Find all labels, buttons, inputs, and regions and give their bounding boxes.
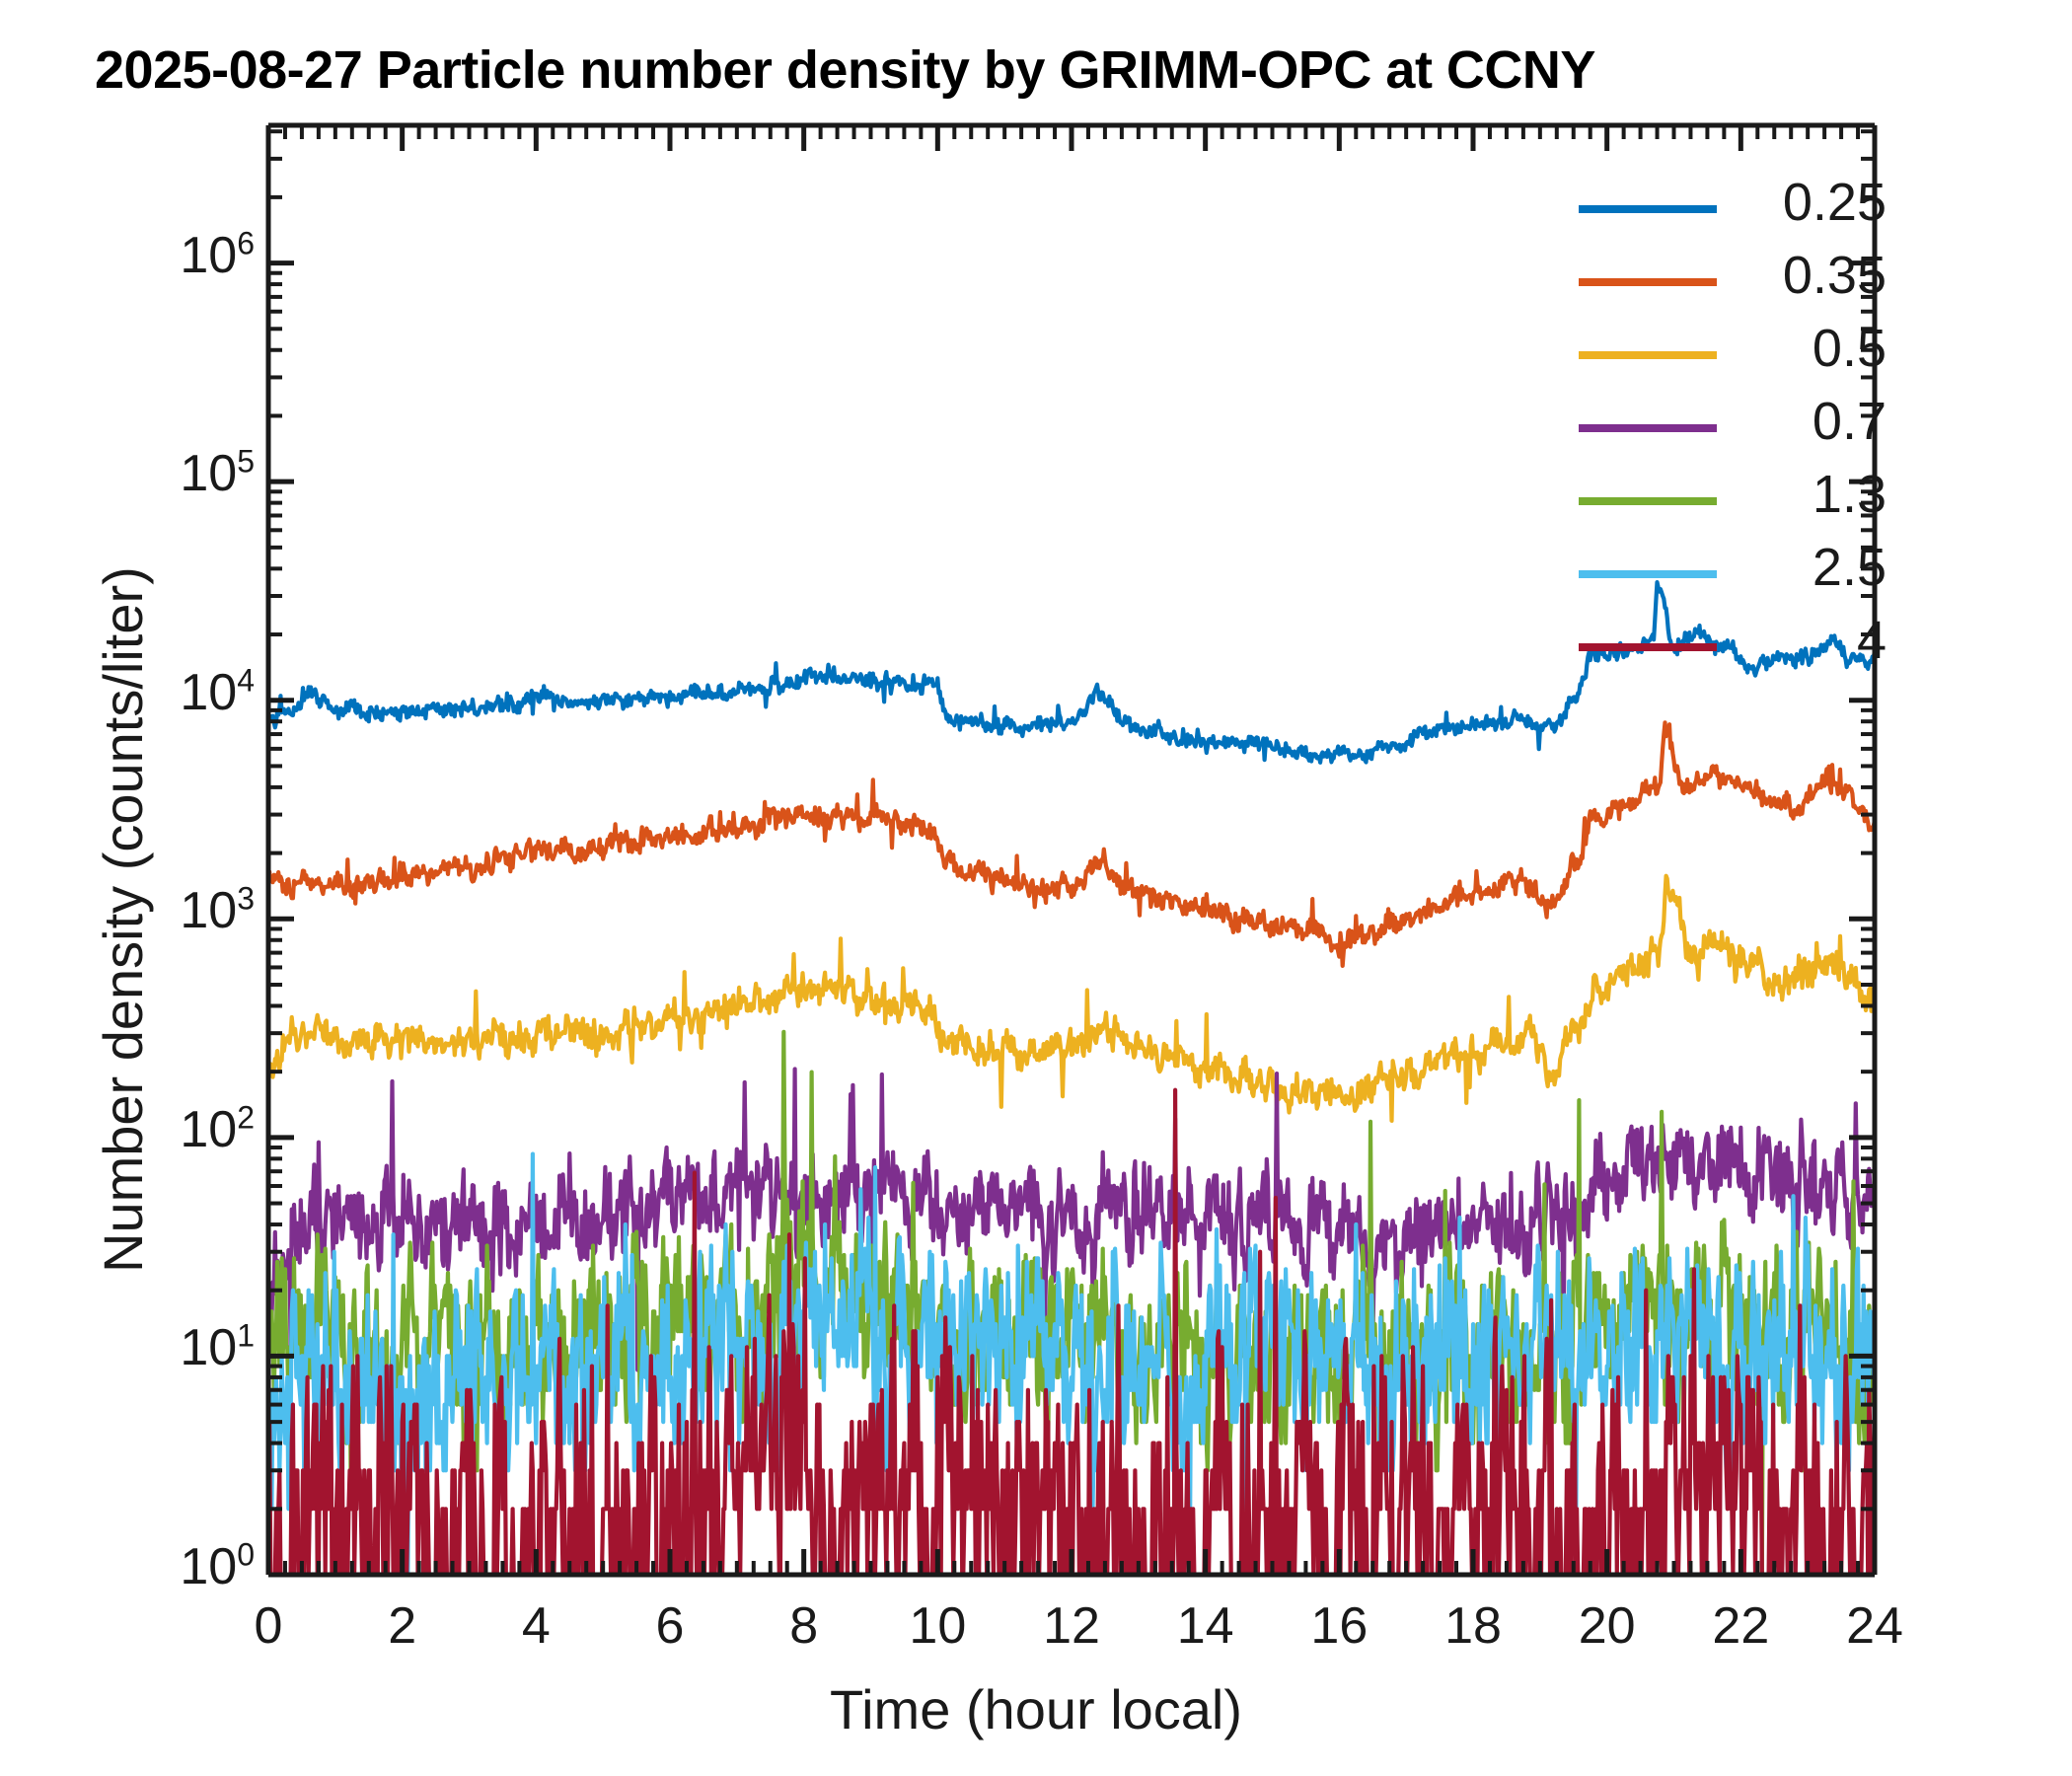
x-tick-label-0: 0 <box>209 1596 328 1656</box>
legend-label-0.5[interactable]: 0.5 <box>1729 318 1887 379</box>
y-tick-label-10e3: 103 <box>180 881 255 940</box>
x-tick-label-4: 4 <box>477 1596 595 1656</box>
legend-sample-lines <box>1579 209 1717 647</box>
y-tick-label-10e2: 102 <box>180 1100 255 1159</box>
x-tick-label-14: 14 <box>1147 1596 1265 1656</box>
y-tick-label-10e4: 104 <box>180 663 255 722</box>
legend-label-4[interactable]: 4 <box>1729 610 1887 671</box>
x-tick-label-16: 16 <box>1280 1596 1398 1656</box>
y-tick-label-10e0: 100 <box>180 1537 255 1596</box>
y-tick-label-10e6: 106 <box>180 226 255 285</box>
chart-page: 2025-08-27 Particle number density by GR… <box>0 0 2072 1776</box>
x-tick-label-2: 2 <box>343 1596 462 1656</box>
series-line-0.25 <box>268 582 1875 763</box>
y-tick-label-10e1: 101 <box>180 1318 255 1377</box>
x-tick-label-8: 8 <box>745 1596 863 1656</box>
x-tick-label-12: 12 <box>1012 1596 1131 1656</box>
y-axis-title: Number density (counts/liter) <box>91 566 155 1273</box>
x-axis-title: Time (hour local) <box>0 1677 2072 1741</box>
x-tick-label-10: 10 <box>878 1596 997 1656</box>
legend-label-2.5[interactable]: 2.5 <box>1729 537 1887 598</box>
legend-label-1.3[interactable]: 1.3 <box>1729 464 1887 525</box>
series-line-0.35 <box>268 722 1875 966</box>
x-tick-label-6: 6 <box>611 1596 729 1656</box>
legend-label-0.25[interactable]: 0.25 <box>1729 172 1887 233</box>
legend-label-0.7[interactable]: 0.7 <box>1729 391 1887 452</box>
x-tick-label-24: 24 <box>1815 1596 1934 1656</box>
x-tick-label-22: 22 <box>1681 1596 1800 1656</box>
series-layer <box>268 582 1875 1575</box>
y-tick-label-10e5: 105 <box>180 444 255 503</box>
x-tick-label-18: 18 <box>1414 1596 1532 1656</box>
legend-label-0.35[interactable]: 0.35 <box>1729 245 1887 306</box>
series-line-0.5 <box>268 876 1875 1121</box>
x-tick-label-20: 20 <box>1548 1596 1666 1656</box>
